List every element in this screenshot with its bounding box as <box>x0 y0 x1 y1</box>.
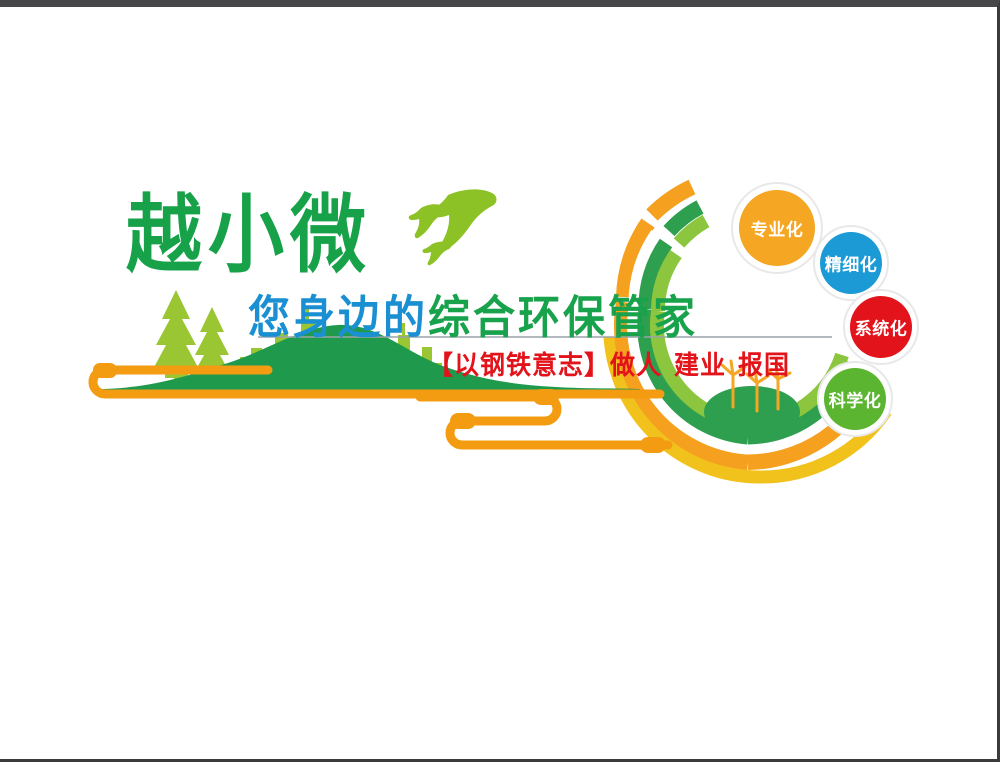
slogan-word-1: 做人 <box>610 350 662 380</box>
badge-label-systematization[interactable]: 系统化 <box>855 315 908 340</box>
slogan-word-3: 报国 <box>738 350 790 380</box>
poster-canvas: 越小微 您身边的综合环保管家 【以钢铁意志】做人建业报国 专业化 精细化 系统化… <box>0 0 1000 762</box>
artboard: 越小微 您身边的综合环保管家 【以钢铁意志】做人建业报国 专业化 精细化 系统化… <box>0 7 1000 762</box>
slogan-bracketed: 【以钢铁意志】 <box>428 350 610 380</box>
page-title: 越小微 <box>126 193 372 278</box>
slogan: 【以钢铁意志】做人建业报国 <box>428 352 790 378</box>
birds-icon <box>409 189 497 265</box>
badge-label-refinement[interactable]: 精细化 <box>825 251 878 276</box>
subtitle: 您身边的综合环保管家 <box>248 295 698 340</box>
badge-label-scientific[interactable]: 科学化 <box>829 387 882 412</box>
subtitle-blue-text: 您身边的 <box>248 291 428 344</box>
graphics-layer <box>0 7 1000 762</box>
subtitle-green-text: 综合环保管家 <box>428 291 698 344</box>
slogan-word-2: 建业 <box>674 350 726 380</box>
badge-label-specialization[interactable]: 专业化 <box>751 216 804 241</box>
